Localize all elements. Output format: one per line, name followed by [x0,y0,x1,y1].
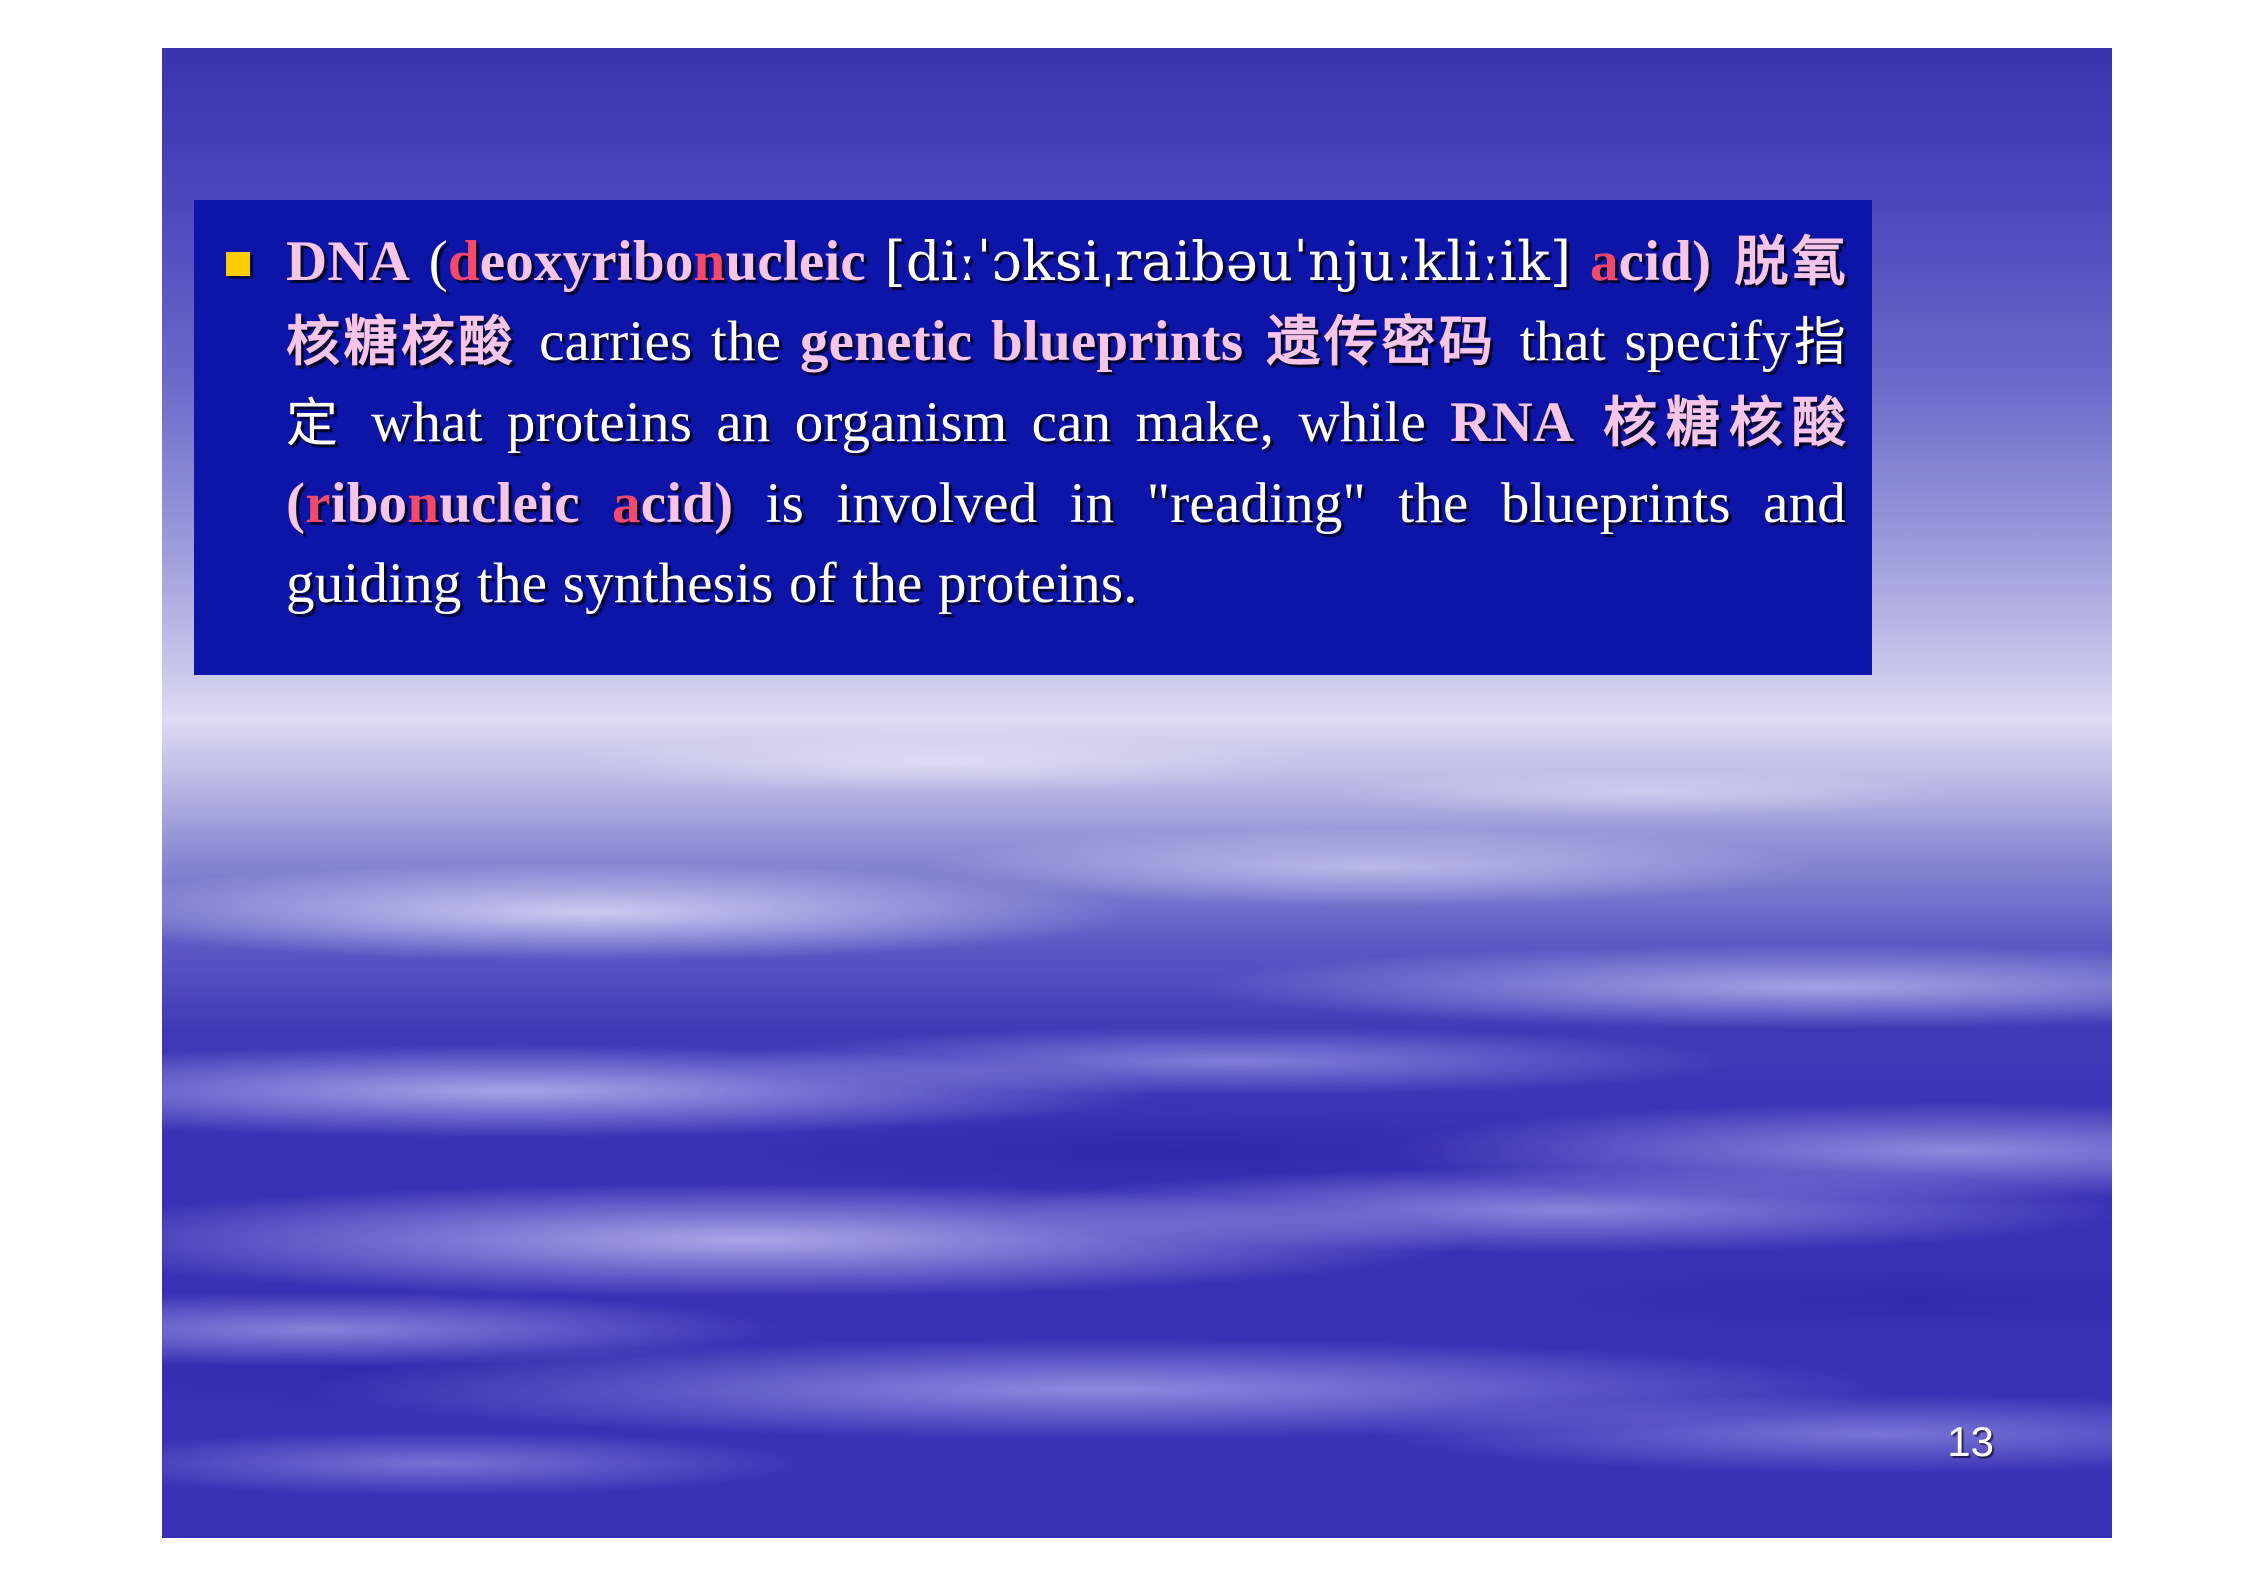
term-rna: RNA [1450,391,1574,454]
phrase-what-proteins-organism: what proteins an organism can make, whil… [347,391,1450,454]
word-eoxyribo: eoxyribo [480,230,694,293]
punct-paren-open-2: ( [286,472,305,535]
word-ucleic-2: ucleic [439,472,579,535]
space-2 [1571,230,1590,293]
ipa-pronunciation-dna: [diːˈɔksiˌraibəuˈnjuːkliːik] [885,230,1572,293]
chinese-term-genetic-code: 遗传密码 [1243,310,1519,373]
page-number: 13 [1947,1418,1994,1466]
punct-paren-close-2: ) [714,472,733,535]
body-paragraph: DNA (deoxyribonucleic [diːˈɔksiˌraibəuˈn… [220,222,1846,624]
letter-a-highlight-2: a [612,472,641,535]
body-text-box: DNA (deoxyribonucleic [diːˈɔksiˌraibəuˈn… [194,200,1872,675]
chinese-term-ribonucleic-acid: 核糖核酸 [1574,391,1846,454]
letter-n-highlight: n [694,230,726,293]
letter-n-highlight-2: n [407,472,439,535]
punct-paren-open: ( [410,230,448,293]
letter-d-highlight: d [448,230,480,293]
square-bullet-icon [226,252,250,276]
word-cid: cid [1619,230,1692,293]
word-ucleic: ucleic [725,230,865,293]
term-genetic-blueprints: genetic blueprints [800,310,1243,373]
space-3 [580,472,612,535]
bullet-row: DNA (deoxyribonucleic [diːˈɔksiˌraibəuˈn… [220,222,1846,624]
letter-a-highlight: a [1590,230,1619,293]
slide-root: DNA (deoxyribonucleic [diːˈɔksiˌraibəuˈn… [0,0,2246,1586]
word-cid-2: cid [641,472,714,535]
punct-paren-close: ) [1692,230,1711,293]
term-dna: DNA [286,230,410,293]
phrase-that-specify: that specify [1520,310,1791,373]
letter-r-highlight: r [305,472,331,535]
slide-canvas: DNA (deoxyribonucleic [diːˈɔksiˌraibəuˈn… [162,48,2112,1538]
word-ibo: ibo [331,472,408,535]
phrase-carries-the: carries the [539,310,800,373]
space-1 [866,230,885,293]
